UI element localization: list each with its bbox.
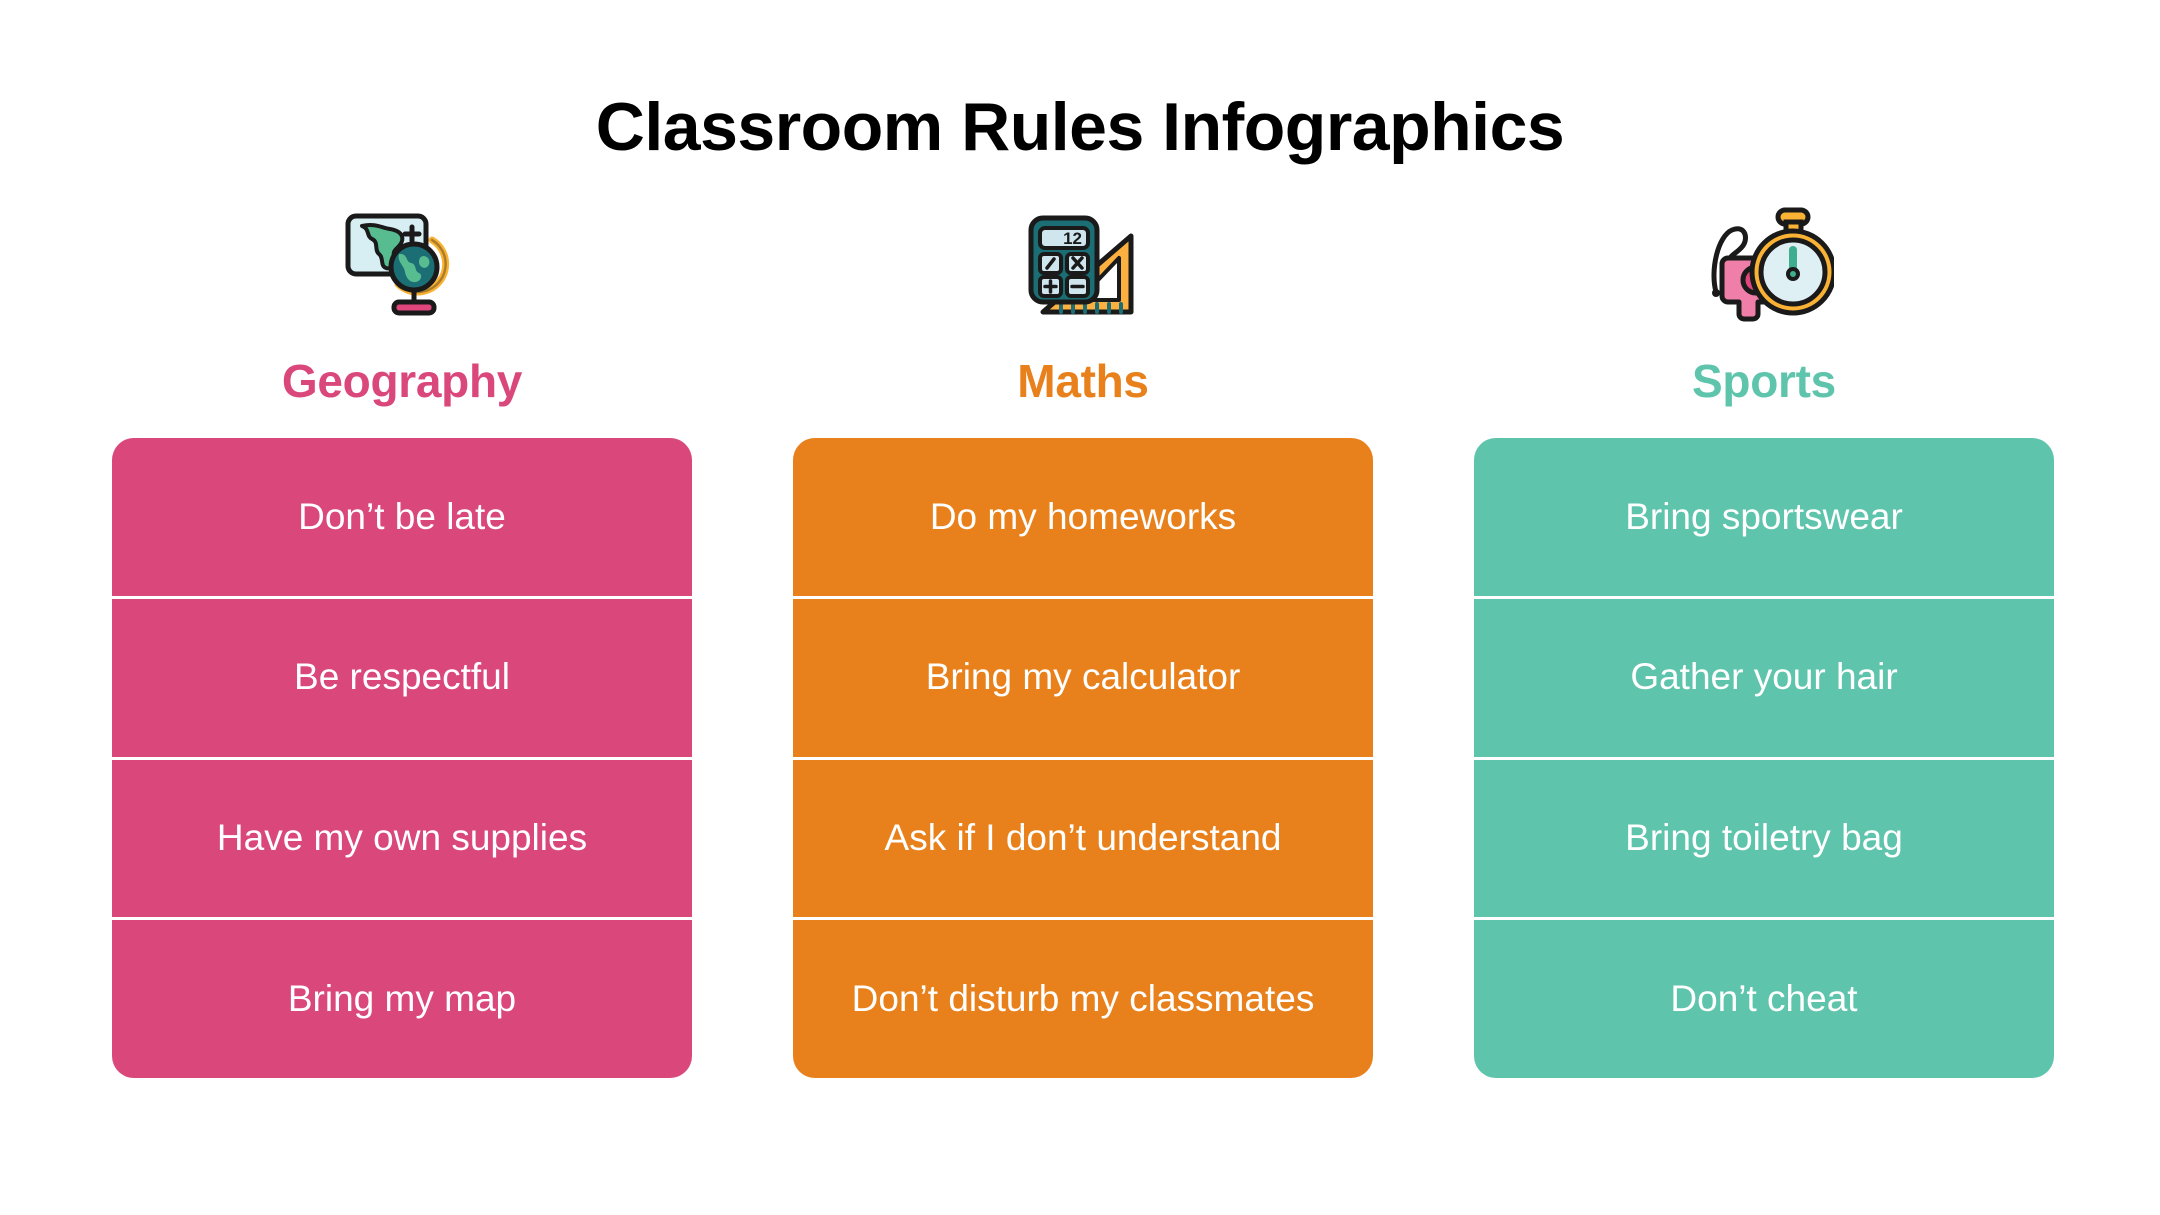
- rules-card-sports: Bring sportswear Gather your hair Bring …: [1474, 438, 2054, 1078]
- infographic-page: Classroom Rules Infographics: [0, 0, 2160, 1215]
- calculator-ruler-icon: 12: [1013, 196, 1153, 336]
- rule-row[interactable]: Have my own supplies: [112, 757, 692, 918]
- whistle-stopwatch-icon: [1694, 196, 1834, 336]
- column-heading-geography: Geography: [282, 358, 522, 404]
- rule-text: Don’t disturb my classmates: [852, 979, 1315, 1020]
- columns-container: Geography Don’t be late Be respectful Ha…: [112, 196, 2054, 1078]
- rule-row[interactable]: Gather your hair: [1474, 596, 2054, 757]
- rule-row[interactable]: Ask if I don’t understand: [793, 757, 1373, 918]
- rules-card-maths: Do my homeworks Bring my calculator Ask …: [793, 438, 1373, 1078]
- rule-text: Have my own supplies: [217, 818, 587, 859]
- rule-row[interactable]: Don’t cheat: [1474, 917, 2054, 1078]
- svg-text:12: 12: [1063, 229, 1082, 248]
- rule-text: Bring sportswear: [1625, 497, 1903, 538]
- rule-text: Be respectful: [294, 657, 510, 698]
- rule-text: Don’t cheat: [1670, 979, 1857, 1020]
- page-title: Classroom Rules Infographics: [0, 88, 2160, 166]
- rule-row[interactable]: Bring my calculator: [793, 596, 1373, 757]
- rule-text: Don’t be late: [298, 497, 506, 538]
- rule-row[interactable]: Bring my map: [112, 917, 692, 1078]
- column-geography: Geography Don’t be late Be respectful Ha…: [112, 196, 692, 1078]
- rule-text: Gather your hair: [1630, 657, 1897, 698]
- rule-text: Bring my calculator: [926, 657, 1241, 698]
- rules-card-geography: Don’t be late Be respectful Have my own …: [112, 438, 692, 1078]
- rule-text: Bring my map: [288, 979, 516, 1020]
- rule-text: Ask if I don’t understand: [885, 818, 1282, 859]
- rule-row[interactable]: Bring toiletry bag: [1474, 757, 2054, 918]
- rule-row[interactable]: Don’t be late: [112, 438, 692, 596]
- globe-map-icon: [332, 196, 472, 336]
- rule-row[interactable]: Bring sportswear: [1474, 438, 2054, 596]
- rule-row[interactable]: Be respectful: [112, 596, 692, 757]
- column-sports: Sports Bring sportswear Gather your hair…: [1474, 196, 2054, 1078]
- rule-row[interactable]: Don’t disturb my classmates: [793, 917, 1373, 1078]
- rule-text: Bring toiletry bag: [1625, 818, 1903, 859]
- column-maths: 12 Maths Do my homeworks: [793, 196, 1373, 1078]
- column-heading-sports: Sports: [1692, 358, 1836, 404]
- rule-text: Do my homeworks: [930, 497, 1236, 538]
- column-heading-maths: Maths: [1017, 358, 1148, 404]
- rule-row[interactable]: Do my homeworks: [793, 438, 1373, 596]
